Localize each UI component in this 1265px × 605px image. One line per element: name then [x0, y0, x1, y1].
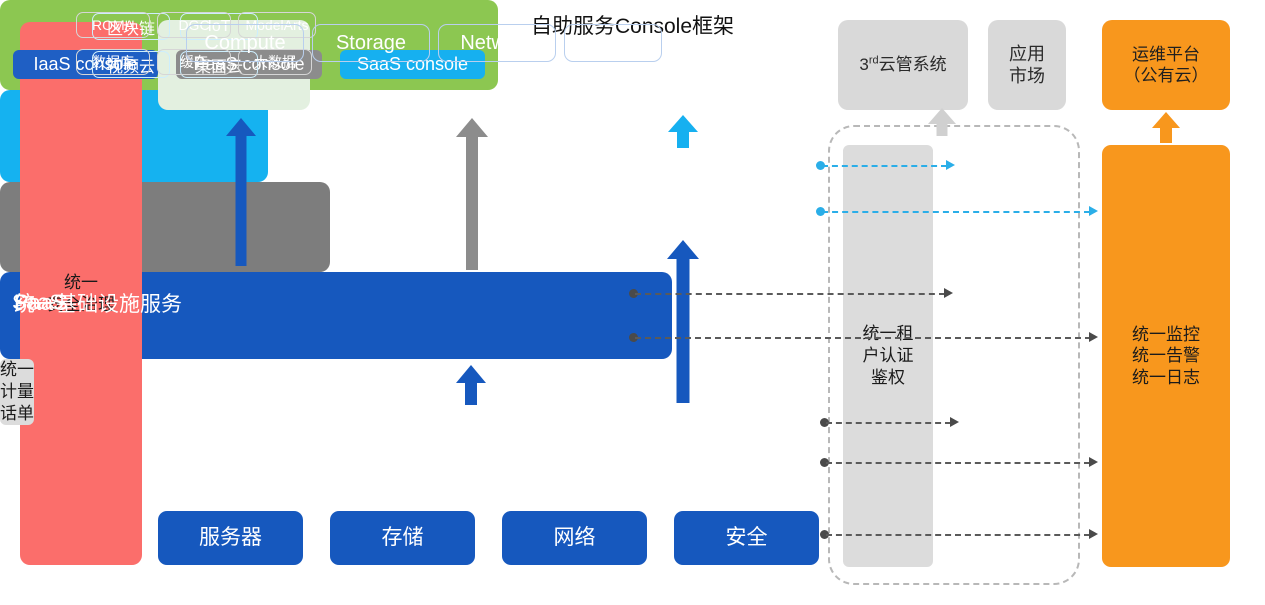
unified-infrastructure-label: 统一基础设施服务: [14, 0, 182, 605]
unified-monitoring-column: 统一监控统一告警统一日志: [1102, 145, 1230, 567]
hardware-item-storage: 存储: [330, 511, 475, 565]
unified-metering-billing-column: 统一计量话单: [0, 359, 34, 425]
unified-monitoring-label: 统一监控统一告警统一日志: [1132, 324, 1200, 388]
architecture-diagram: 统一安全治理 API网关 自助服务Console框架 IaaS console …: [0, 0, 1265, 605]
iaas-item-network[interactable]: Network: [438, 24, 556, 62]
third-party-suffix: 云管系统: [879, 55, 947, 74]
flow-arrowhead-hardware-to-monitoring-icon: [1089, 529, 1101, 539]
flow-line-saas-to-auth: [822, 165, 947, 167]
iaas-item-storage[interactable]: Storage: [312, 24, 430, 62]
unified-metering-billing-label: 统一计量话单: [0, 359, 34, 425]
flow-arrowhead-paas-to-auth-icon: [944, 288, 956, 298]
app-market-label: 应用市场: [1009, 43, 1045, 88]
iaas-item-cce[interactable]: CCE: [564, 24, 662, 62]
flow-arrowhead-saas-to-monitoring-icon: [1089, 206, 1101, 216]
flow-arrowhead-iaas-to-monitoring-icon: [1089, 457, 1101, 467]
flow-line-saas-to-monitoring: [822, 211, 1090, 213]
flow-line-iaas-to-auth: [826, 422, 951, 424]
flow-line-paas-to-monitoring: [635, 337, 1091, 339]
unified-infrastructure-box: 统一基础设施服务 Compute Storage Network CCE: [0, 272, 672, 359]
third-party-cloud-label: 3rd云管系统: [859, 54, 946, 75]
arrow-iaas-to-paas-icon: [456, 365, 486, 405]
ops-platform-label: 运维平台（公有云）: [1124, 44, 1209, 87]
hardware-item-security: 安全: [674, 511, 819, 565]
flow-line-iaas-to-monitoring: [826, 462, 1090, 464]
third-party-superscript: rd: [869, 55, 879, 67]
arrow-iaas-to-saas-icon: [668, 240, 698, 403]
arrow-paas-to-console-icon: [456, 118, 488, 270]
hardware-item-network: 网络: [502, 511, 647, 565]
unified-tenant-auth-label: 统一租户认证鉴权: [863, 323, 914, 389]
iaas-item-compute[interactable]: Compute: [186, 24, 304, 62]
arrow-saas-to-console-icon: [668, 115, 698, 148]
arrow-monitoring-to-ops-platform-icon: [1152, 112, 1180, 143]
ops-platform-box: 运维平台（公有云）: [1102, 20, 1230, 110]
hardware-item-server: 服务器: [158, 511, 303, 565]
flow-line-hardware-to-monitoring: [826, 534, 1090, 536]
app-market-box: 应用市场: [988, 20, 1066, 110]
unified-tenant-auth-column: 统一租户认证鉴权: [843, 145, 933, 567]
flow-arrowhead-paas-to-monitoring-icon: [1089, 332, 1101, 342]
third-party-cloud-management-box: 3rd云管系统: [838, 20, 968, 110]
flow-arrowhead-iaas-to-auth-icon: [950, 417, 962, 427]
third-party-prefix: 3: [859, 55, 868, 74]
arrow-platform-to-third-party-icon: [928, 108, 956, 136]
flow-line-paas-to-auth: [635, 293, 945, 295]
arrow-iaas-to-api-gateway-icon: [226, 118, 256, 266]
flow-arrowhead-saas-to-auth-icon: [946, 160, 958, 170]
